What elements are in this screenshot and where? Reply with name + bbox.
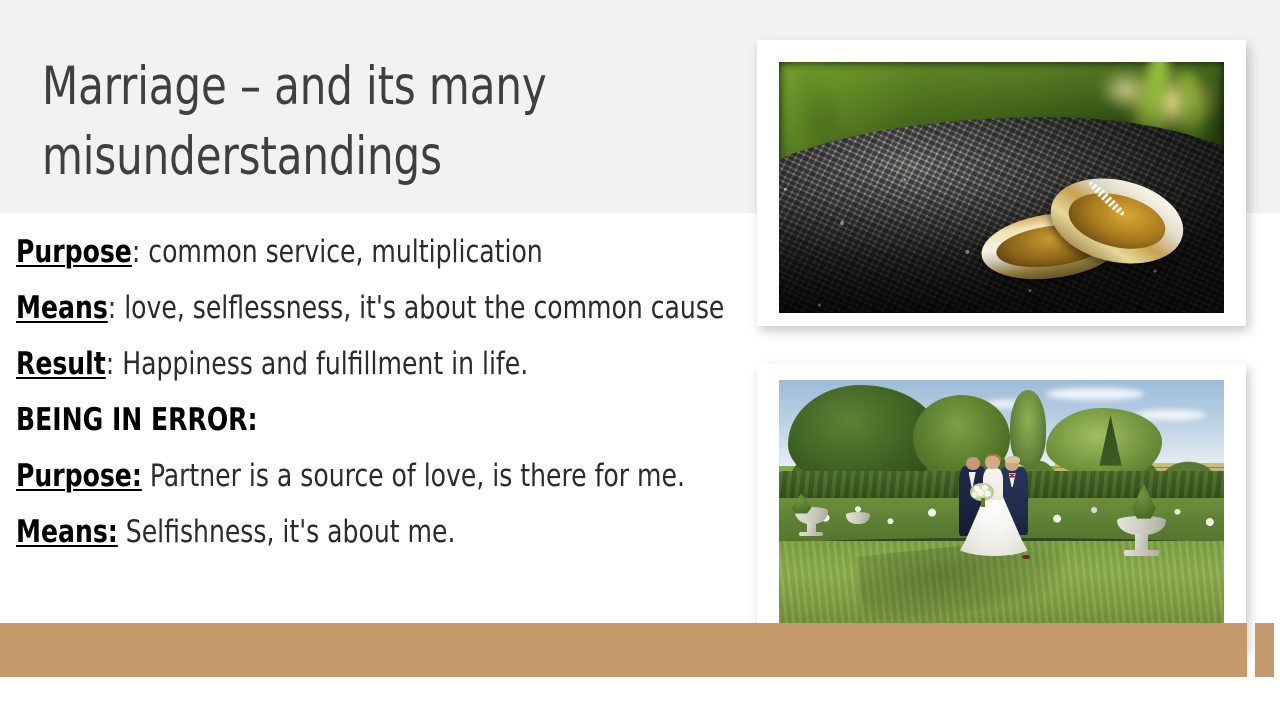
garden-scene xyxy=(779,380,1224,632)
bottom-accent-bar xyxy=(0,623,1247,677)
groomsman-left-head xyxy=(966,457,980,471)
wedding-party-photo-frame[interactable] xyxy=(757,363,1246,649)
tree xyxy=(1046,408,1162,479)
body-line-text: : Happiness and fulfillment in life. xyxy=(106,346,528,382)
stone-urn-stem xyxy=(1135,534,1148,552)
body-line-label: Purpose xyxy=(16,234,132,270)
rock-shadow xyxy=(779,62,1224,313)
shoe xyxy=(1022,555,1030,559)
cloud xyxy=(1046,388,1144,401)
body-line-text: Partner is a source of love, is there fo… xyxy=(142,458,685,494)
body-line-label: Result xyxy=(16,346,106,382)
bride-head xyxy=(985,456,999,470)
body-line-label: Means xyxy=(16,290,108,326)
body-line: Purpose: common service, multiplication xyxy=(16,224,684,280)
wedding-rings-photo[interactable] xyxy=(779,62,1224,313)
wedding-party-photo[interactable] xyxy=(779,380,1224,632)
wedding-rings-photo-frame[interactable] xyxy=(757,40,1246,326)
slide-title[interactable]: Marriage – and its many misunderstanding… xyxy=(42,52,658,192)
body-line-label: Means: xyxy=(16,514,118,550)
slender-tree xyxy=(1010,390,1046,466)
stone-urn-base xyxy=(1124,550,1159,556)
accent-block-right xyxy=(1255,623,1274,677)
body-line: Means: love, selflessness, it's about th… xyxy=(16,280,684,336)
rings-scene xyxy=(779,62,1224,313)
body-line: Means: Selfishness, it's about me. xyxy=(16,504,684,560)
bouquet-stem xyxy=(981,498,985,507)
body-line: Purpose: Partner is a source of love, is… xyxy=(16,448,684,504)
body-line-text: Selfishness, it's about me. xyxy=(118,514,456,550)
stone-urn-base xyxy=(799,532,823,536)
body-line-label: BEING IN ERROR: xyxy=(16,402,258,438)
body-line-text: : love, selflessness, it's about the com… xyxy=(108,290,725,326)
groomsman-right-hair xyxy=(1005,456,1020,463)
body-line: Result: Happiness and fulfillment in lif… xyxy=(16,336,684,392)
body-line-text: : common service, multiplication xyxy=(132,234,543,270)
body-line-label: Purpose: xyxy=(16,458,142,494)
ring-inner-gold xyxy=(1061,184,1173,258)
body-line-heading: BEING IN ERROR: xyxy=(16,392,684,448)
body-text-block[interactable]: Purpose: common service, multiplication … xyxy=(16,224,758,560)
presentation-slide: Marriage – and its many misunderstanding… xyxy=(0,0,1280,720)
